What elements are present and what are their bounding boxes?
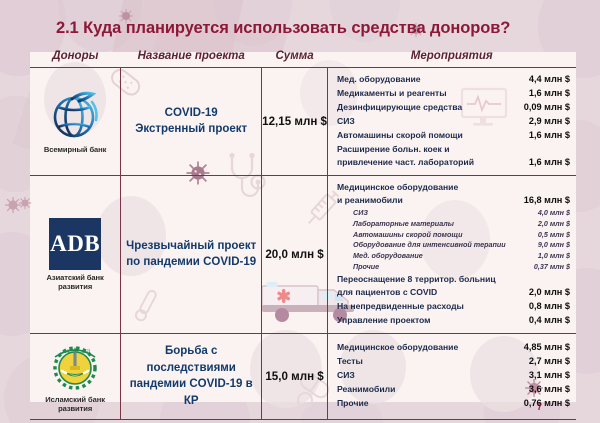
activity-row: для пациентов с COVID2,0 млн $ xyxy=(337,286,570,300)
activities-list-1: Медицинское оборудованиеи реанимобили16,… xyxy=(328,176,576,333)
project-cell: Борьба с последствиями пандемии COVID-19… xyxy=(121,333,262,419)
table-row: Всемирный банк COVID-19 Экстренный проек… xyxy=(30,68,576,176)
activity-label: Реанимобили xyxy=(337,383,529,396)
activity-row: Лабораторные материалы2,0 млн $ xyxy=(337,219,570,230)
activity-value: 4,4 млн $ xyxy=(529,73,570,87)
activity-row: СИЗ3,1 млн $ xyxy=(337,369,570,383)
donor-name: Азиатский банк развития xyxy=(32,273,118,291)
activity-row: Переоснащение 8 территор. больниц xyxy=(337,273,570,286)
activity-row: и реанимобили16,8 млн $ xyxy=(337,194,570,208)
activity-value: 1,6 млн $ xyxy=(529,156,570,170)
project-line: пандемии COVID-19 в КР xyxy=(125,376,257,409)
activity-value: 16,8 млн $ xyxy=(524,194,570,208)
activity-label: СИЗ xyxy=(353,208,538,219)
activity-label: Прочие xyxy=(353,262,534,273)
activity-value: 0,5 млн $ xyxy=(538,230,570,241)
table-row: ADB Азиатский банк развития Чрезвычайный… xyxy=(30,175,576,333)
activity-row: На непредвиденные расходы0,8 млн $ xyxy=(337,300,570,314)
amount-cell: 20,0 млн $ xyxy=(262,175,328,333)
amount-value: 20,0 млн $ xyxy=(262,248,327,261)
donor-cell-world-bank: Всемирный банк xyxy=(30,68,121,176)
activity-value: 0,37 млн $ xyxy=(534,262,570,273)
activity-label: привлечение част. лабораторий xyxy=(337,156,529,169)
activity-value: 1,6 млн $ xyxy=(529,129,570,143)
activity-value: 3,6 млн $ xyxy=(529,383,570,397)
activity-row: привлечение част. лабораторий1,6 млн $ xyxy=(337,156,570,170)
activity-row: Медицинское оборудование4,85 млн $ xyxy=(337,341,570,355)
activity-label: Автомашины скорой помощи xyxy=(353,230,538,241)
amount-value: 15,0 млн $ xyxy=(262,370,327,383)
activity-row: Реанимобили3,6 млн $ xyxy=(337,383,570,397)
activity-label: СИЗ xyxy=(337,115,529,128)
adb-logo-text: ADB xyxy=(50,232,100,255)
activity-label: Дезинфицирующие средства xyxy=(337,101,524,114)
activity-value: 4,0 млн $ xyxy=(538,208,570,219)
activity-label: и реанимобили xyxy=(337,194,524,207)
activity-label: для пациентов с COVID xyxy=(337,286,529,299)
donor-funding-table: Доноры Название проекта Сумма Мероприяти… xyxy=(30,50,576,420)
activity-label: Медицинское оборудование xyxy=(337,181,570,194)
activity-label: Расширение больн. коек и xyxy=(337,143,570,156)
donor-name: Всемирный банк xyxy=(32,145,118,154)
activity-value: 2,0 млн $ xyxy=(538,219,570,230)
activity-label: Медикаменты и реагенты xyxy=(337,87,529,100)
activity-row: Расширение больн. коек и xyxy=(337,143,570,156)
activity-row: СИЗ2,9 млн $ xyxy=(337,115,570,129)
activities-cell: Медицинское оборудованиеи реанимобили16,… xyxy=(328,175,577,333)
project-cell: COVID-19 Экстренный проект xyxy=(121,68,262,176)
activity-label: Автомашины скорой помощи xyxy=(337,129,529,142)
donor-cell-adb: ADB Азиатский банк развития xyxy=(30,175,121,333)
activity-label: Переоснащение 8 территор. больниц xyxy=(337,273,570,286)
activities-cell: Мед. оборудование4,4 млн $Медикаменты и … xyxy=(328,68,577,176)
activity-row: Управление проектом0,4 млн $ xyxy=(337,314,570,328)
activity-value: 0,4 млн $ xyxy=(529,314,570,328)
page-number: 7 xyxy=(537,402,542,412)
amount-value: 12,15 млн $ xyxy=(262,115,327,128)
table-header-row: Доноры Название проекта Сумма Мероприяти… xyxy=(30,50,576,68)
adb-logo: ADB xyxy=(49,218,101,270)
activity-value: 2,0 млн $ xyxy=(529,286,570,300)
table-row: البنك الإسلامي Исламский банк развития Б… xyxy=(30,333,576,419)
activity-value: 1,0 млн $ xyxy=(538,251,570,262)
project-line: COVID-19 xyxy=(125,105,257,122)
amount-cell: 15,0 млн $ xyxy=(262,333,328,419)
activity-row: Оборудование для интенсивной терапии9,0 … xyxy=(337,240,570,251)
activity-row: Автомашины скорой помощи0,5 млн $ xyxy=(337,230,570,241)
activity-row: Медикаменты и реагенты1,6 млн $ xyxy=(337,87,570,101)
column-header-activities: Мероприятия xyxy=(328,50,577,68)
activity-row: Мед. оборудование1,0 млн $ xyxy=(337,251,570,262)
activity-row: СИЗ4,0 млн $ xyxy=(337,208,570,219)
activity-value: 0,09 млн $ xyxy=(524,101,570,115)
activity-label: Тесты xyxy=(337,355,529,368)
activity-value: 3,1 млн $ xyxy=(529,369,570,383)
activity-label: СИЗ xyxy=(337,369,529,382)
activity-row: Прочие0,76 млн $ xyxy=(337,397,570,411)
project-cell: Чрезвычайный проект по пандемии COVID-19 xyxy=(121,175,262,333)
page-title: 2.1 Куда планируется использовать средст… xyxy=(56,19,510,38)
activity-label: Прочие xyxy=(337,397,524,410)
amount-cell: 12,15 млн $ xyxy=(262,68,328,176)
activity-row: Автомашины скорой помощи1,6 млн $ xyxy=(337,129,570,143)
activity-value: 0,8 млн $ xyxy=(529,300,570,314)
donor-name: Исламский банк развития xyxy=(32,395,118,413)
column-header-amount: Сумма xyxy=(262,50,328,68)
activity-value: 2,9 млн $ xyxy=(529,115,570,129)
donor-cell-idb: البنك الإسلامي Исламский банк развития xyxy=(30,333,121,419)
activity-label: Мед. оборудование xyxy=(337,73,529,86)
activity-row: Тесты2,7 млн $ xyxy=(337,355,570,369)
activity-label: Оборудование для интенсивной терапии xyxy=(353,240,538,251)
activity-label: Лабораторные материалы xyxy=(353,219,538,230)
activity-value: 0,76 млн $ xyxy=(524,397,570,411)
activity-value: 9,0 млн $ xyxy=(538,240,570,251)
activity-label: Управление проектом xyxy=(337,314,529,327)
activity-row: Дезинфицирующие средства0,09 млн $ xyxy=(337,101,570,115)
activity-value: 1,6 млн $ xyxy=(529,87,570,101)
project-line: Экстренный проект xyxy=(125,121,257,138)
project-line: по пандемии COVID-19 xyxy=(125,254,257,271)
activity-row: Прочие0,37 млн $ xyxy=(337,262,570,273)
activity-value: 2,7 млн $ xyxy=(529,355,570,369)
activities-list-0: Мед. оборудование4,4 млн $Медикаменты и … xyxy=(328,68,576,175)
activity-row: Медицинское оборудование xyxy=(337,181,570,194)
column-header-donors: Доноры xyxy=(30,50,121,68)
activity-value: 4,85 млн $ xyxy=(524,341,570,355)
activity-label: Медицинское оборудование xyxy=(337,341,524,354)
activity-label: На непредвиденные расходы xyxy=(337,300,529,313)
svg-text:البنك الإسلامي: البنك الإسلامي xyxy=(60,349,90,355)
islamic-development-bank-icon: البنك الإسلامي xyxy=(46,340,104,392)
activity-label: Мед. оборудование xyxy=(353,251,538,262)
activity-row: Мед. оборудование4,4 млн $ xyxy=(337,73,570,87)
world-bank-globe-icon xyxy=(48,88,102,142)
column-header-project: Название проекта xyxy=(121,50,262,68)
project-line: Борьба с последствиями xyxy=(125,343,257,376)
project-line: Чрезвычайный проект xyxy=(125,238,257,255)
